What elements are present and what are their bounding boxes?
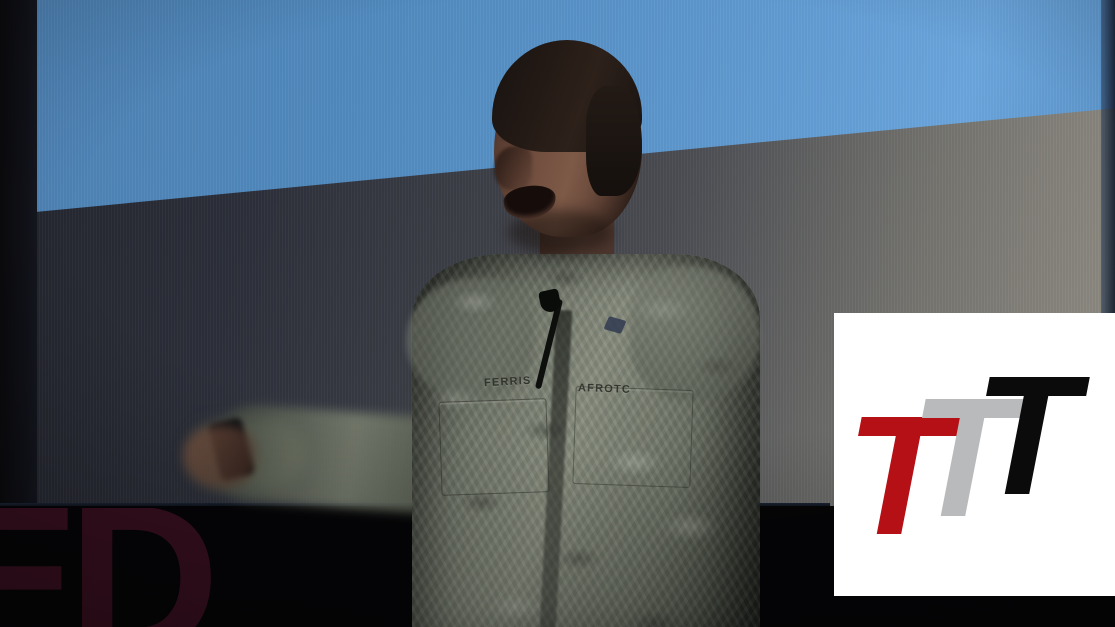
uniform-pocket-left bbox=[438, 398, 549, 496]
speaker-hair-side bbox=[586, 86, 642, 196]
ttt-logo-marks: T T T bbox=[834, 313, 1115, 596]
ttt-logo-card: T T T bbox=[834, 313, 1115, 596]
uniform-name-tape: FERRIS bbox=[484, 375, 532, 389]
ted-letter-d: D bbox=[68, 508, 214, 627]
ted-letter-e: E bbox=[0, 508, 74, 627]
speaker-hand bbox=[184, 426, 256, 488]
ted-backdrop-letters: E D bbox=[0, 508, 260, 627]
speaker-nose bbox=[494, 146, 532, 190]
uniform-service-tape: AFROTC bbox=[578, 382, 631, 396]
ttt-logo-t-black: T bbox=[974, 351, 1070, 521]
uniform-pocket-right bbox=[572, 386, 693, 488]
screen-right-edge bbox=[1101, 0, 1115, 320]
speaker: FERRIS AFROTC bbox=[398, 28, 768, 627]
video-frame: E D FERRIS AFROTC bbox=[0, 0, 1115, 627]
screen-left-frame bbox=[0, 0, 37, 516]
